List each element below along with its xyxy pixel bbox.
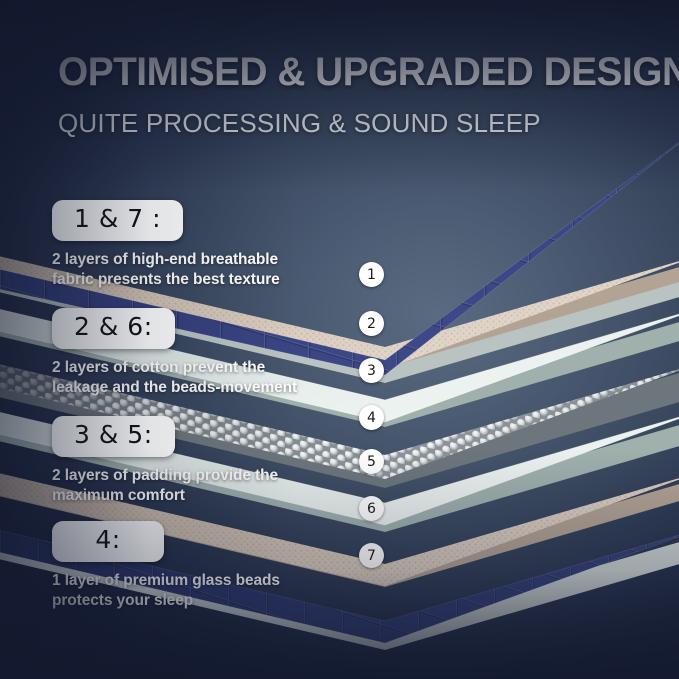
infographic-canvas: 1 2 3 4 5 6 7 OPTIMISED & UPGRADED DESIG… <box>0 0 679 679</box>
layer-badge-7: 7 <box>359 543 384 568</box>
layer-badge-4-label: 4 <box>367 410 376 426</box>
callout-1-description: 2 layers of high-end breathable fabric p… <box>52 250 314 291</box>
callout-2-badge-pill: 2 & 6: <box>52 308 175 349</box>
callout-4: 4: 1 layer of premium glass beads protec… <box>52 521 314 611</box>
callout-3-description: 2 layers of padding provide the maximum … <box>52 466 314 507</box>
callout-4-description: 1 layer of premium glass beads protects … <box>52 571 314 612</box>
callout-1-and-7: 1 & 7 : 2 layers of high-end breathable … <box>52 200 314 290</box>
layer-badge-7-label: 7 <box>367 548 376 564</box>
layer-badge-1: 1 <box>359 262 384 287</box>
callout-3-badge-pill: 3 & 5: <box>52 416 175 457</box>
callout-1-badge-label: 1 & 7 : <box>74 204 161 235</box>
callout-1-badge-pill: 1 & 7 : <box>52 200 183 241</box>
callout-2-description: 2 layers of cotton prevent the leakage a… <box>52 358 314 399</box>
layer-badge-5-label: 5 <box>367 454 376 470</box>
callout-2-badge-label: 2 & 6: <box>74 312 153 343</box>
layer-badge-2: 2 <box>359 311 384 336</box>
layer-badge-6-label: 6 <box>367 501 376 517</box>
layer-badge-3-label: 3 <box>367 363 376 379</box>
layer-badge-5: 5 <box>359 449 384 474</box>
callout-3-badge-label: 3 & 5: <box>74 420 153 451</box>
page-subtitle: QUITE PROCESSING & SOUND SLEEP <box>58 108 658 139</box>
callout-2-and-6: 2 & 6: 2 layers of cotton prevent the le… <box>52 308 314 398</box>
layer-badge-2-label: 2 <box>367 316 376 332</box>
header-block: OPTIMISED & UPGRADED DESIGN QUITE PROCES… <box>58 52 658 139</box>
layer-badge-3: 3 <box>359 358 384 383</box>
callout-4-badge-label: 4: <box>52 525 164 556</box>
layer-badge-6: 6 <box>359 496 384 521</box>
layer-badge-4: 4 <box>359 405 384 430</box>
page-title: OPTIMISED & UPGRADED DESIGN <box>58 52 640 92</box>
callout-4-badge-pill: 4: <box>52 521 164 562</box>
layer-badge-1-label: 1 <box>367 267 376 283</box>
callout-3-and-5: 3 & 5: 2 layers of padding provide the m… <box>52 416 314 506</box>
